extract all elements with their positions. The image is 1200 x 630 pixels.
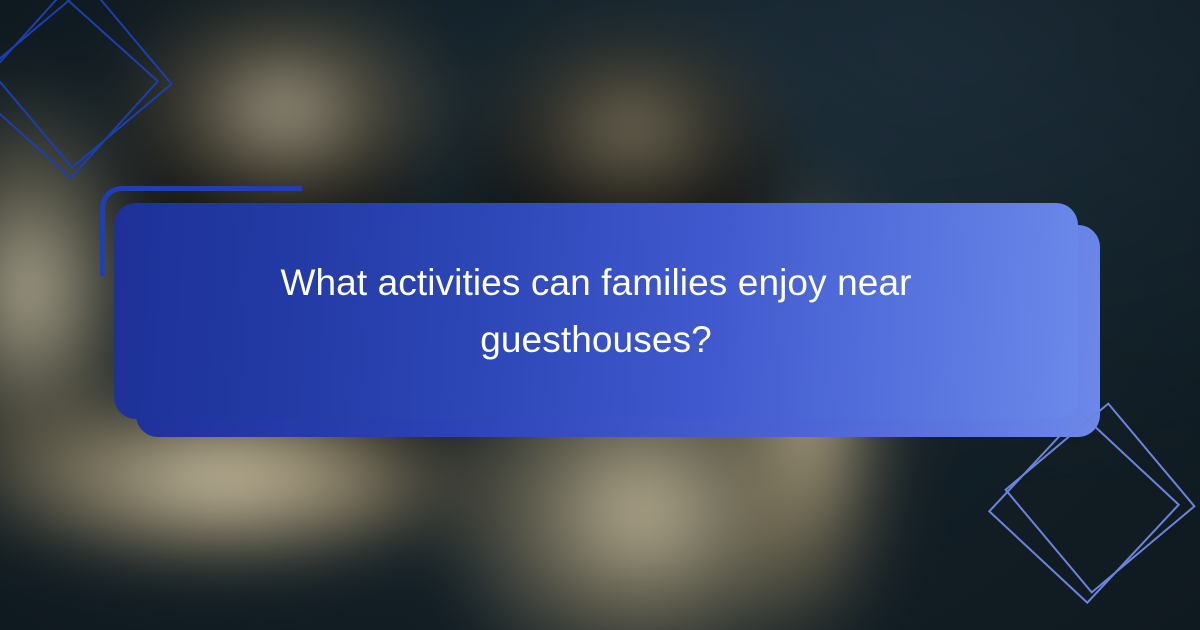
decor-squares-bottom-right	[992, 418, 1200, 628]
question-title: What activities can families enjoy near …	[246, 254, 946, 368]
share-card-canvas: What activities can families enjoy near …	[0, 0, 1200, 630]
question-card: What activities can families enjoy near …	[114, 203, 1078, 419]
rotated-square-outline	[1004, 402, 1196, 594]
decor-squares-top-left	[0, 4, 194, 204]
rotated-square-outline	[0, 0, 173, 169]
